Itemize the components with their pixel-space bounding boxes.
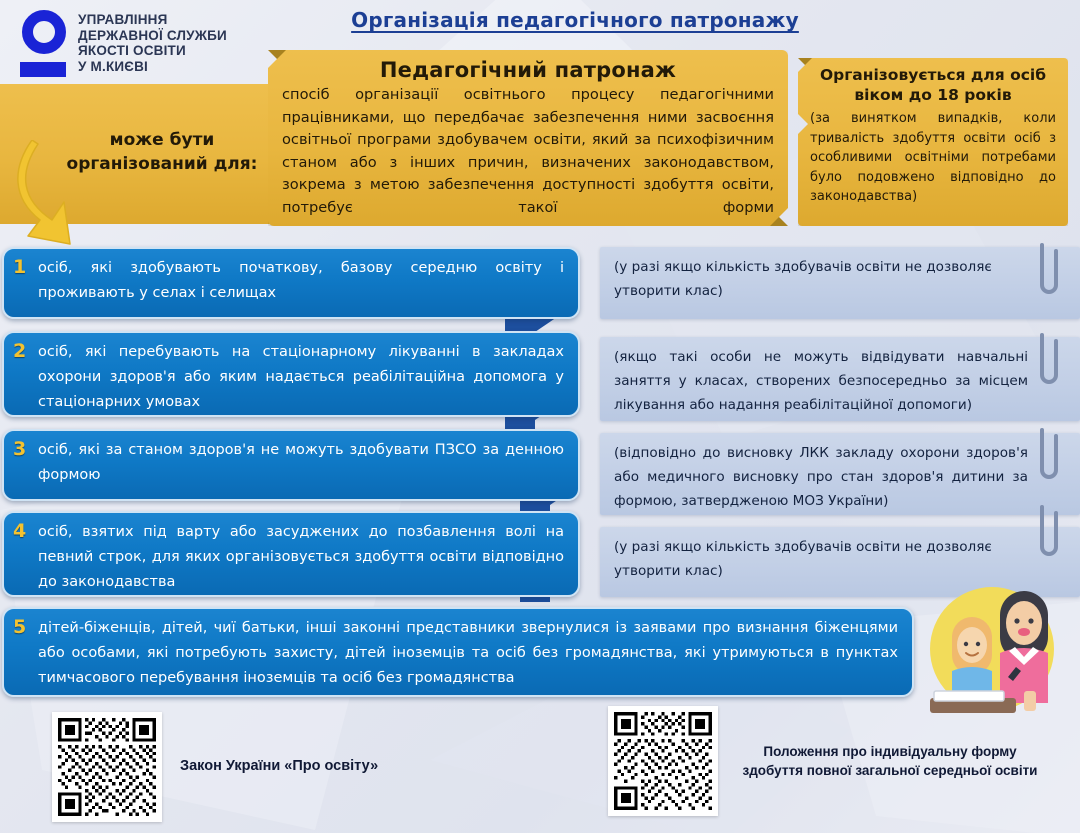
org-name-line: ЯКОСТІ ОСВІТИ (78, 43, 227, 59)
infographic-canvas: УПРАВЛІННЯ ДЕРЖАВНОЇ СЛУЖБИ ЯКОСТІ ОСВІТ… (0, 0, 1080, 833)
list-item-label: осіб, які перебувають на стаціонарному л… (4, 333, 578, 421)
list-item-number: 2 (13, 340, 26, 362)
list-item-label: дітей-біженців, дітей, чиї батьки, інші … (4, 609, 912, 697)
note-card: (у разі якщо кількість здобувачів освіти… (600, 247, 1080, 319)
list-item-label: осіб, взятих під варту або засуджених до… (4, 513, 578, 601)
ring-and-bar-logo-icon (18, 10, 68, 82)
qr-caption-regulation: Положення про індивідуальну форму здобут… (740, 742, 1040, 780)
list-item[interactable]: 4 осіб, взятих під варту або засуджених … (2, 511, 580, 597)
organization-logo-block: УПРАВЛІННЯ ДЕРЖАВНОЇ СЛУЖБИ ЯКОСТІ ОСВІТ… (18, 8, 278, 94)
organization-name: УПРАВЛІННЯ ДЕРЖАВНОЇ СЛУЖБИ ЯКОСТІ ОСВІТ… (78, 8, 227, 74)
paperclip-icon (1032, 505, 1066, 567)
list-item[interactable]: 3 осіб, які за станом здоров'я не можуть… (2, 429, 580, 501)
list-item[interactable]: 1 осіб, які здобувають початкову, базову… (2, 247, 580, 319)
note-card: (якщо такі особи не можуть відвідувати н… (600, 337, 1080, 421)
note-text: (якщо такі особи не можуть відвідувати н… (600, 337, 1080, 423)
list-item[interactable]: 5 дітей-біженців, дітей, чиї батьки, інш… (2, 607, 914, 697)
list-item-number: 5 (13, 616, 26, 638)
panel-age-limit: Організовується для осіб віком до 18 рок… (798, 58, 1068, 226)
definition-heading: Педагогічний патронаж (268, 50, 788, 84)
list-item-number: 4 (13, 520, 26, 542)
org-name-line: ДЕРЖАВНОЇ СЛУЖБИ (78, 28, 227, 44)
note-card: (відповідно до висновку ЛКК закладу охор… (600, 433, 1080, 515)
definition-body: спосіб організації освітнього процесу пе… (268, 84, 788, 219)
qr-code-regulation[interactable] (608, 706, 718, 816)
list-item-number: 3 (13, 438, 26, 460)
paperclip-icon (1032, 243, 1066, 305)
paperclip-icon (1032, 428, 1066, 490)
qr-code-icon (614, 712, 712, 810)
list-item[interactable]: 2 осіб, які перебувають на стаціонарному… (2, 331, 580, 417)
note-text: (відповідно до висновку ЛКК закладу охор… (600, 433, 1080, 519)
age-limit-heading: Організовується для осіб віком до 18 рок… (798, 58, 1068, 107)
qr-caption-law: Закон України «Про освіту» (180, 758, 480, 774)
paperclip-icon (1032, 333, 1066, 395)
org-name-line: У М.КИЄВІ (78, 59, 227, 75)
teacher-and-pupil-illustration-icon (916, 585, 1068, 713)
qr-code-icon (58, 718, 156, 816)
list-item-label: осіб, які здобувають початкову, базову с… (4, 249, 578, 312)
panel-definition: Педагогічний патронаж спосіб організації… (268, 50, 788, 226)
list-item-number: 1 (13, 256, 26, 278)
qr-code-law[interactable] (52, 712, 162, 822)
note-text: (у разі якщо кількість здобувачів освіти… (600, 247, 1080, 309)
page-title: Організація педагогічного патронажу (330, 8, 820, 32)
org-name-line: УПРАВЛІННЯ (78, 12, 227, 28)
age-limit-body: (за винятком випадків, коли тривалість з… (798, 107, 1068, 207)
note-text: (у разі якщо кількість здобувачів освіти… (600, 527, 1080, 589)
list-item-label: осіб, які за станом здоров'я не можуть з… (4, 431, 578, 494)
curved-down-arrow-icon (8, 140, 88, 248)
